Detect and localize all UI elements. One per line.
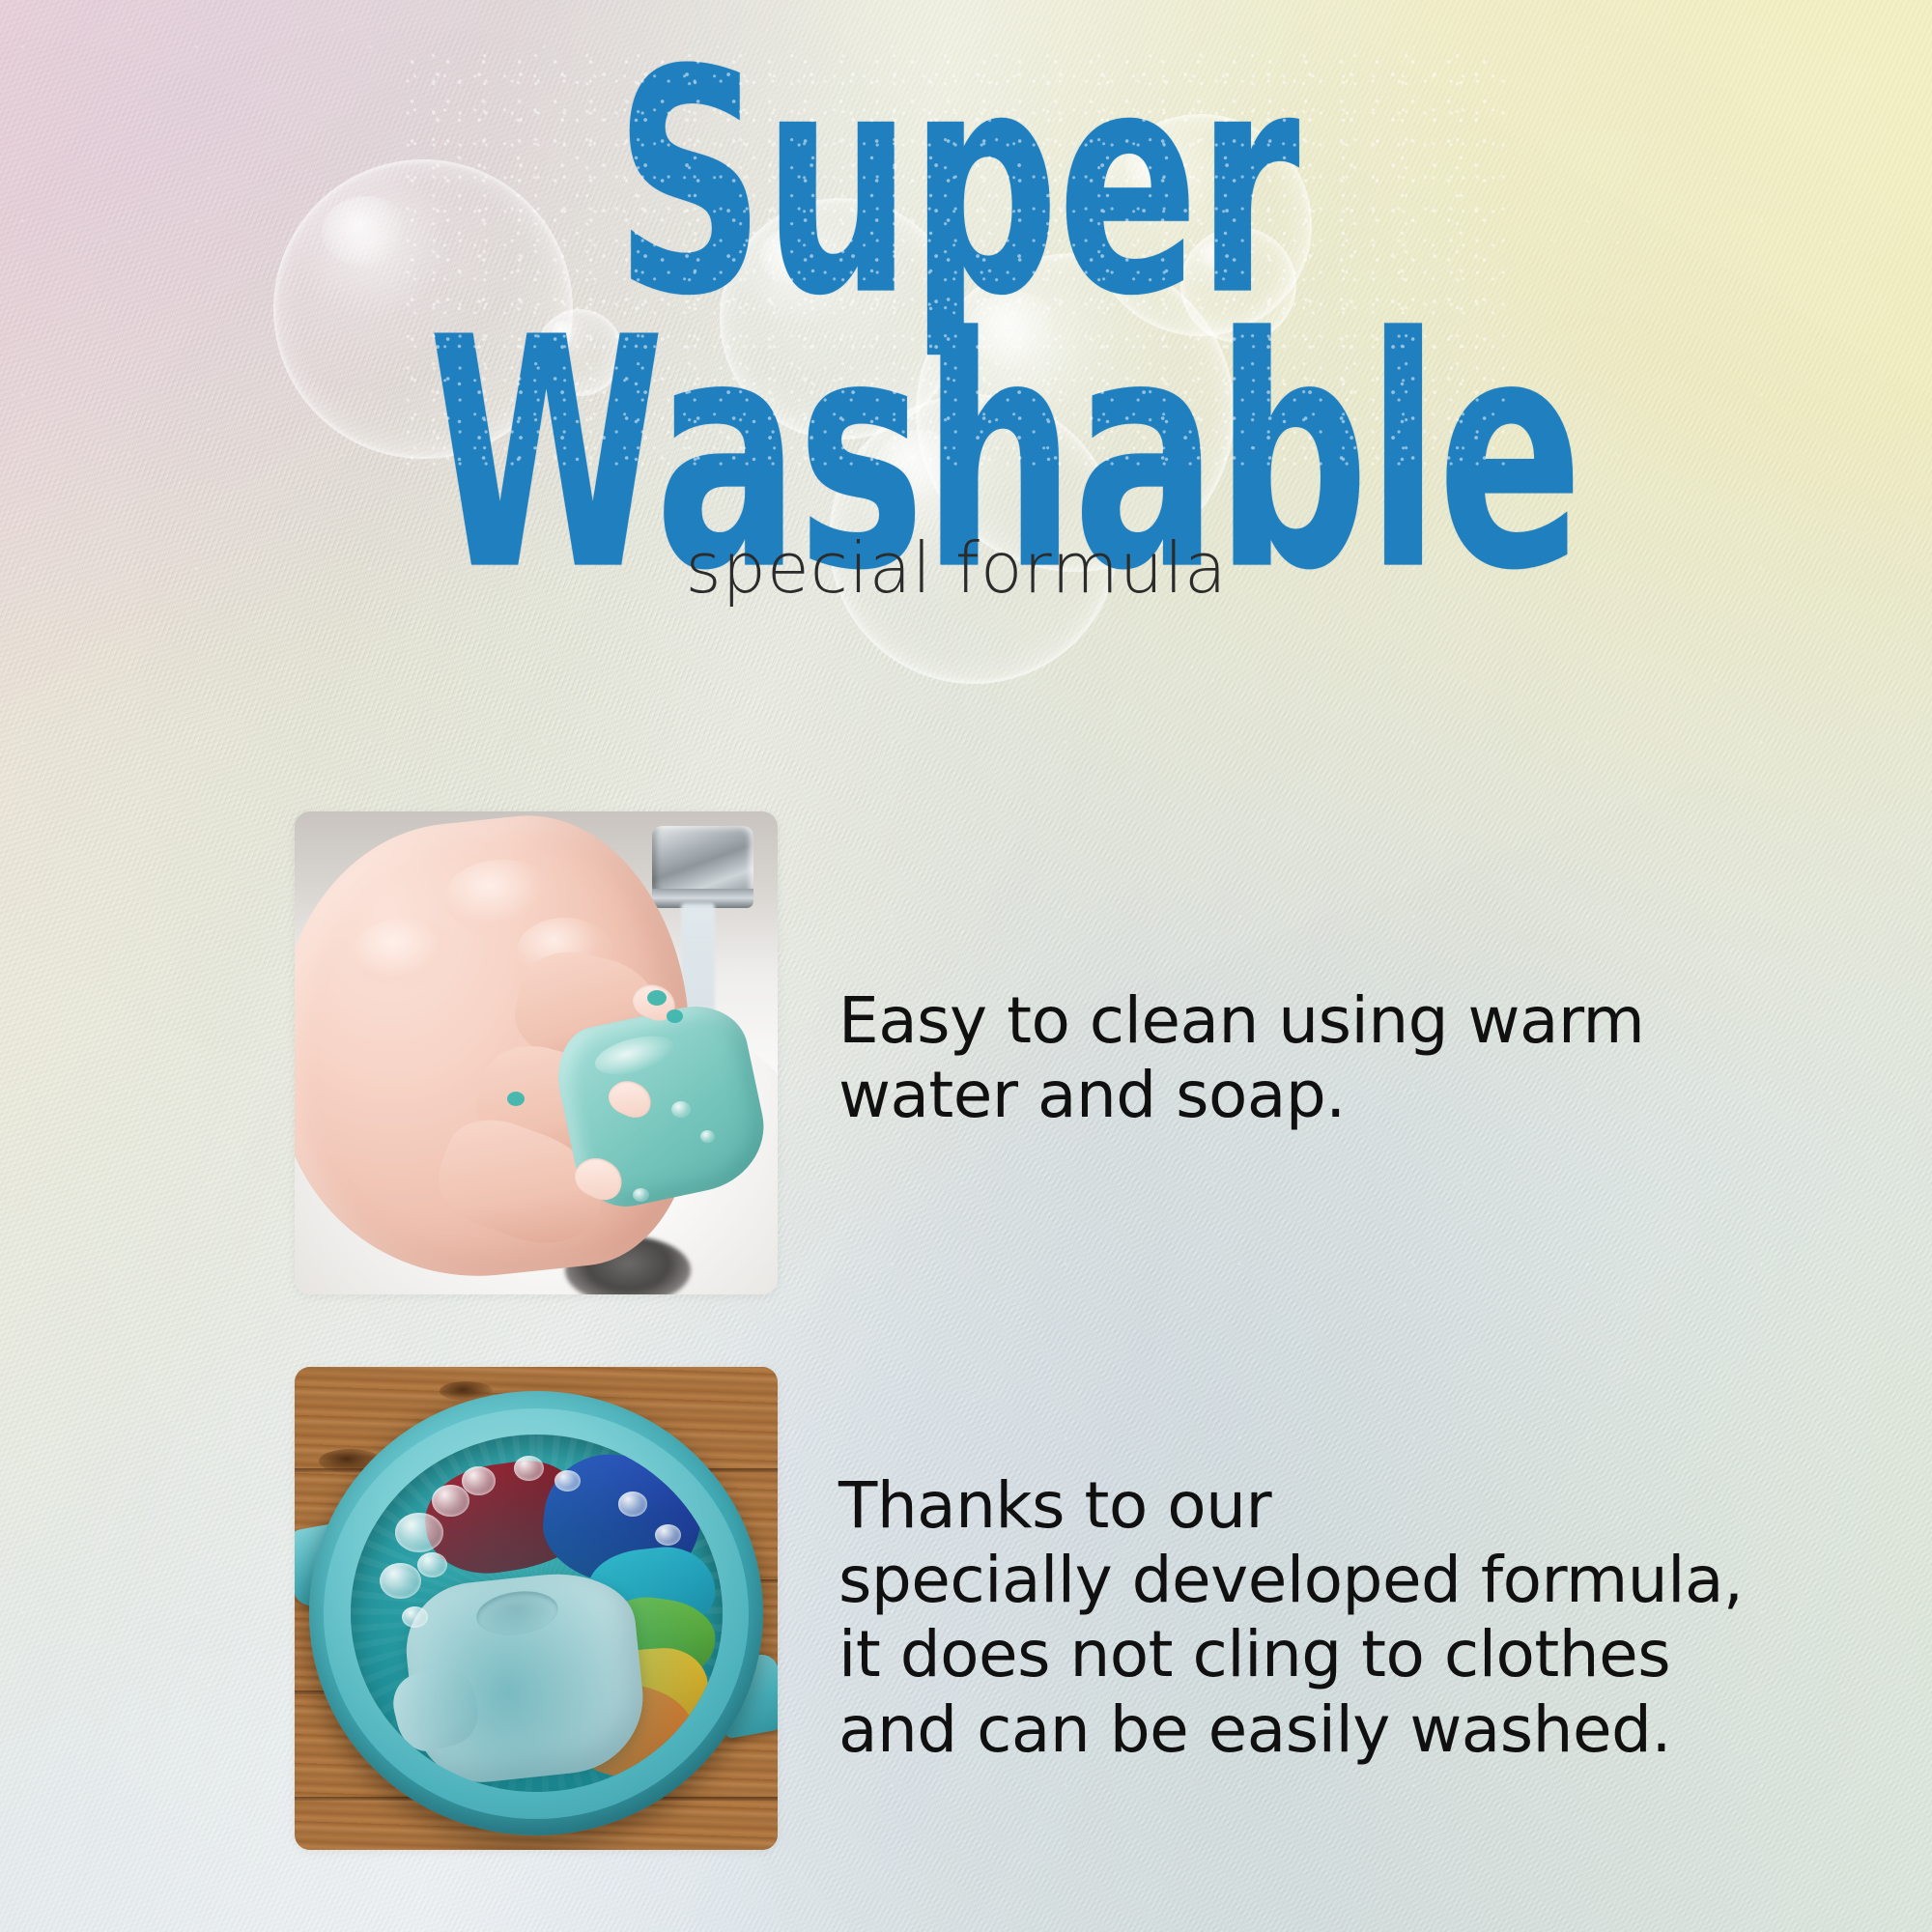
hand-washing-scene [295, 811, 778, 1294]
copy-line: it does not cling to clothes [838, 1617, 1766, 1691]
soap-suds [432, 1485, 469, 1517]
copy-line: water and soap. [838, 1058, 1669, 1132]
water-droplet [633, 1188, 649, 1202]
soap-suds [380, 1563, 420, 1599]
soap-suds [417, 1552, 447, 1577]
poster-canvas: Super Washable special formula [0, 0, 1932, 1932]
water-droplet [671, 1101, 691, 1118]
copy-line: Thanks to our [838, 1468, 1766, 1543]
headline-text: Super Washable [428, 53, 1485, 592]
soap-suds [402, 1606, 428, 1628]
laundry-basin-scene [295, 1367, 778, 1850]
headline-block: Super Washable [406, 53, 1507, 433]
basin-interior [351, 1435, 723, 1792]
copy-line: Easy to clean using warm [838, 983, 1669, 1058]
subtitle-text: special formula [412, 527, 1502, 609]
soap-suds [514, 1456, 544, 1481]
soap-suds [462, 1466, 496, 1495]
soap-suds [395, 1513, 443, 1552]
photo-laundry-basin [295, 1367, 778, 1850]
nail-polish-dot [647, 990, 667, 1006]
knuckle-highlight [353, 918, 459, 990]
nail-polish-dot [667, 1009, 683, 1023]
copy-line: and can be easily washed. [838, 1692, 1766, 1767]
nail-polish-dot [507, 1092, 525, 1106]
water-droplet [700, 1130, 715, 1143]
photo-hand-washing [295, 811, 778, 1294]
soap-suds [655, 1524, 681, 1546]
feature-text-wash-by-hand: Easy to clean using warm water and soap. [838, 983, 1669, 1132]
copy-line: specially developed formula, [838, 1543, 1766, 1617]
feature-text-no-cling: Thanks to our specially developed formul… [838, 1468, 1766, 1767]
